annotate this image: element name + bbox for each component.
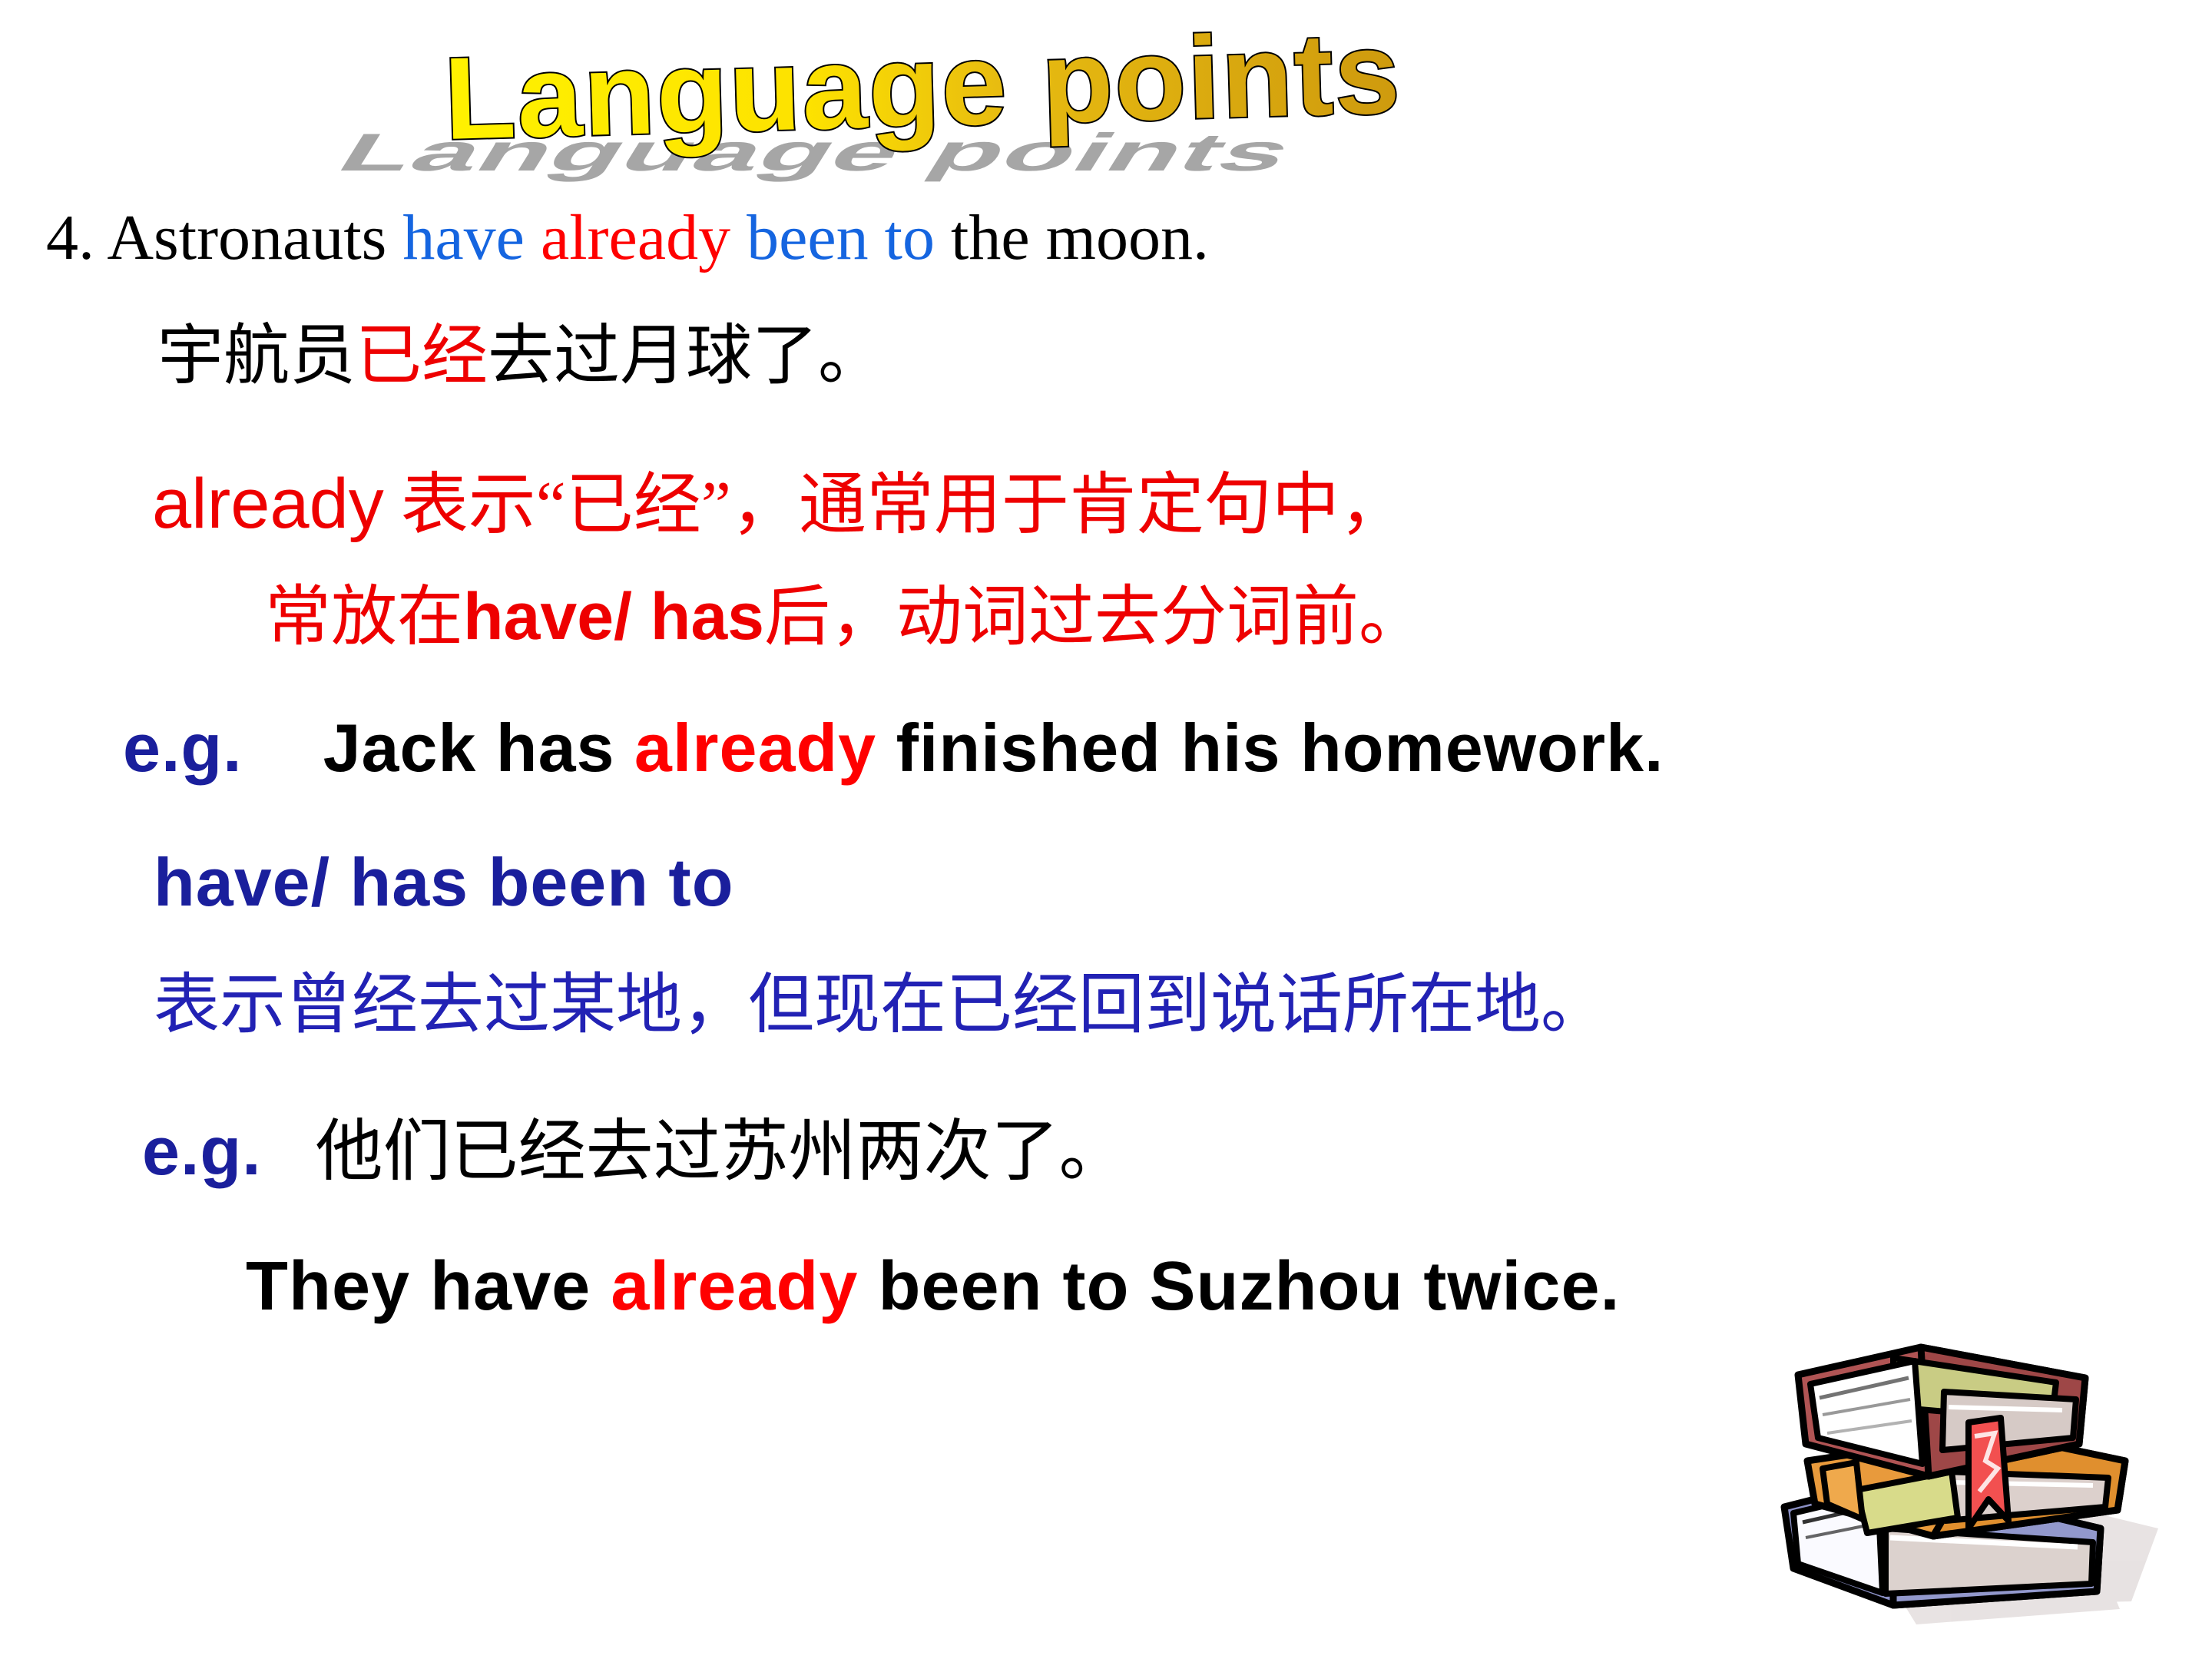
explanation-been-to-chinese: 表示曾经去过某地，但现在已经回到说话所在地。 (154, 972, 1607, 1038)
line9-part-a: They have (246, 1248, 611, 1325)
example-line-suzhou-chinese: e.g.他们已经去过苏州两次了。 (142, 1118, 1127, 1187)
line1-already: already (541, 202, 730, 273)
line5-part-a: Jack has (323, 710, 634, 786)
line5-part-c: finished his homework. (876, 710, 1664, 786)
stack-of-books-icon (1770, 1298, 2189, 1636)
wordart-main: Language points (442, 7, 1402, 164)
wordart-svg: Language points Language points (430, 5, 1828, 174)
sentence-line-1: 4. Astronauts have already been to the m… (46, 206, 1209, 270)
line1-object: the moon. (951, 202, 1209, 273)
eg-label-1: e.g. (123, 710, 243, 786)
example-line-suzhou-english: They have already been to Suzhou twice. (246, 1252, 1621, 1321)
explanation-already-line-1: already 表示“已经”，通常用于肯定句中， (152, 469, 1407, 540)
books-clipart (1770, 1298, 2189, 1636)
slide-canvas: Language points Language points 4. Astro… (0, 0, 2212, 1659)
line3-keyword-already: already (152, 465, 384, 543)
line9-already: already (611, 1248, 858, 1325)
line2-yijing: 已经 (356, 319, 488, 392)
slide-title-wordart: Language points Language points (430, 5, 1828, 174)
line4-part-a: 常放在 (265, 580, 463, 654)
line4-part-c: 后，动词过去分词前。 (764, 580, 1425, 654)
line1-subject: Astronauts (107, 202, 386, 273)
line8-sentence: 他们已经去过苏州两次了。 (316, 1115, 1127, 1190)
line2-part-a: 宇航员 (157, 319, 356, 392)
line6-phrase: have/ has been to (154, 844, 733, 920)
line3-explanation: 表示“已经”，通常用于肯定句中， (384, 469, 1407, 543)
line1-number: 4. (46, 202, 94, 273)
line2-part-c: 去过月球了。 (488, 319, 884, 392)
line4-have-has: have/ has (463, 580, 764, 654)
line9-part-c: been to Suzhou twice. (858, 1248, 1620, 1325)
example-line-jack: e.g.Jack has already finished his homewo… (123, 714, 1664, 782)
wordart-main-text: Language points (442, 7, 1402, 164)
line7-explanation: 表示曾经去过某地，但现在已经回到说话所在地。 (154, 968, 1607, 1041)
eg-label-2: e.g. (142, 1113, 262, 1189)
explanation-already-line-2: 常放在have/ has后，动词过去分词前。 (265, 584, 1425, 650)
line1-have: have (402, 202, 525, 273)
line1-been-to: been to (747, 202, 935, 273)
line5-already: already (634, 710, 876, 786)
sentence-line-2-chinese: 宇航员已经去过月球了。 (157, 323, 884, 389)
phrase-have-has-been-to: have/ has been to (154, 849, 733, 916)
